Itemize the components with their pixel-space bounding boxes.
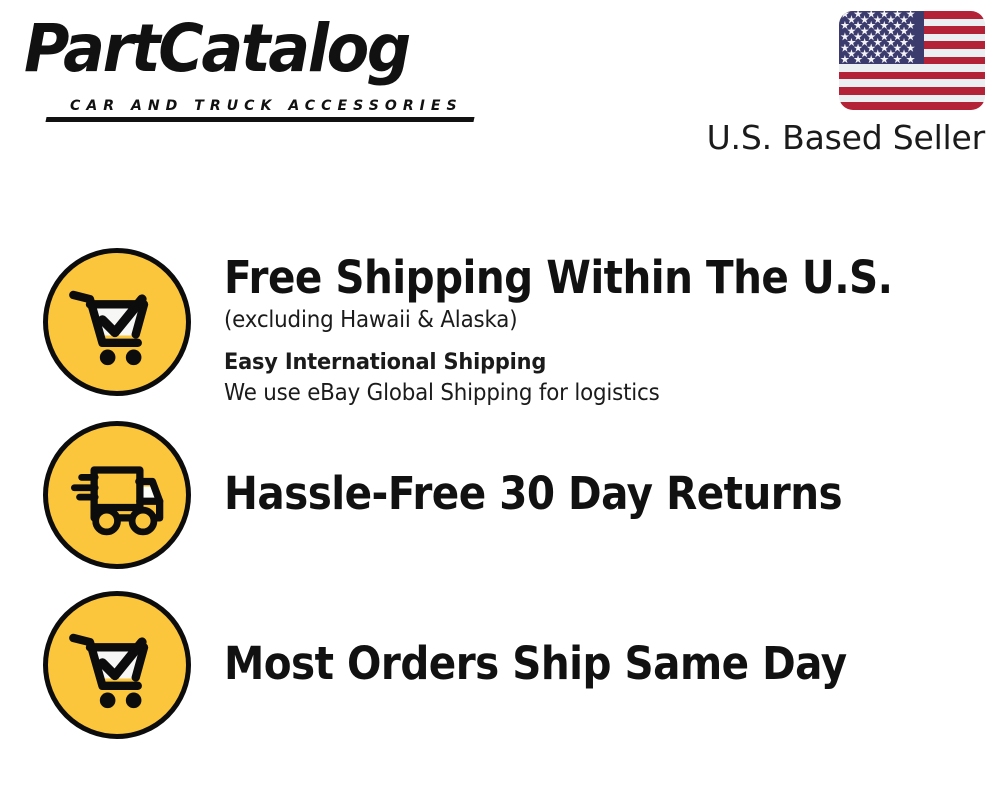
flag-star [854, 11, 863, 19]
flag-star [906, 32, 915, 41]
flag-star [860, 27, 869, 36]
flag-star [867, 55, 876, 64]
flag-star [880, 32, 889, 41]
flag-star [906, 44, 915, 53]
feature-subheading: Easy International Shipping [224, 348, 912, 376]
flag-star [840, 32, 849, 41]
flag-star [854, 44, 863, 53]
flag-star [886, 38, 895, 47]
us-flag-icon [839, 11, 985, 110]
flag-star [847, 15, 856, 24]
flag-star [886, 27, 895, 36]
feature-headline: Most Orders Ship Same Day [224, 640, 890, 689]
flag-star [900, 49, 909, 58]
flag-star [867, 21, 876, 30]
flag-star [867, 11, 876, 19]
flag-star [900, 27, 909, 36]
flag-star [880, 55, 889, 64]
feature-text-block: Free Shipping Within The U.S. (excluding… [224, 254, 964, 408]
seller-banner: PartCatalog CAR AND TRUCK ACCESSORIES U.… [0, 0, 1000, 800]
flag-star [854, 55, 863, 64]
flag-star [867, 44, 876, 53]
flag-star [854, 32, 863, 41]
brand-underline-rule [45, 117, 474, 122]
flag-star [900, 15, 909, 24]
flag-star [893, 55, 902, 64]
flag-star [880, 44, 889, 53]
flag-star [873, 15, 882, 24]
flag-star [867, 32, 876, 41]
flag-star [847, 27, 856, 36]
flag-star [847, 49, 856, 58]
flag-star [873, 27, 882, 36]
feature-subnote: (excluding Hawaii & Alaska) [224, 306, 912, 335]
flag-star [906, 11, 915, 19]
flag-star [893, 11, 902, 19]
flag-star [860, 49, 869, 58]
shopping-cart-check-icon [43, 591, 191, 739]
feature-subdetail: We use eBay Global Shipping for logistic… [224, 379, 912, 408]
flag-star [886, 49, 895, 58]
flag-star [873, 38, 882, 47]
flag-star [840, 44, 849, 53]
brand-wordmark: PartCatalog [24, 16, 409, 82]
us-based-seller-label: U.S. Based Seller [505, 118, 985, 157]
flag-star [847, 38, 856, 47]
flag-star [906, 55, 915, 64]
flag-canton [839, 11, 924, 64]
flag-star [854, 21, 863, 30]
feature-text-block: Most Orders Ship Same Day [224, 640, 964, 689]
brand-tagline: CAR AND TRUCK ACCESSORIES [70, 98, 463, 114]
flag-star [880, 21, 889, 30]
flag-star [840, 11, 849, 19]
flag-star [860, 38, 869, 47]
flag-star [893, 32, 902, 41]
flag-star [873, 49, 882, 58]
brand-logo: PartCatalog CAR AND TRUCK ACCESSORIES [24, 18, 494, 118]
feature-headline: Hassle-Free 30 Day Returns [224, 470, 890, 519]
flag-star [886, 15, 895, 24]
flag-star [840, 55, 849, 64]
flag-star [900, 38, 909, 47]
flag-star [906, 21, 915, 30]
flag-star [893, 44, 902, 53]
feature-text-block: Hassle-Free 30 Day Returns [224, 470, 964, 519]
flag-star [840, 21, 849, 30]
flag-star [860, 15, 869, 24]
feature-headline: Free Shipping Within The U.S. [224, 254, 890, 303]
flag-star [893, 21, 902, 30]
shopping-cart-check-icon [43, 248, 191, 396]
delivery-truck-icon [43, 421, 191, 569]
flag-star [880, 11, 889, 19]
